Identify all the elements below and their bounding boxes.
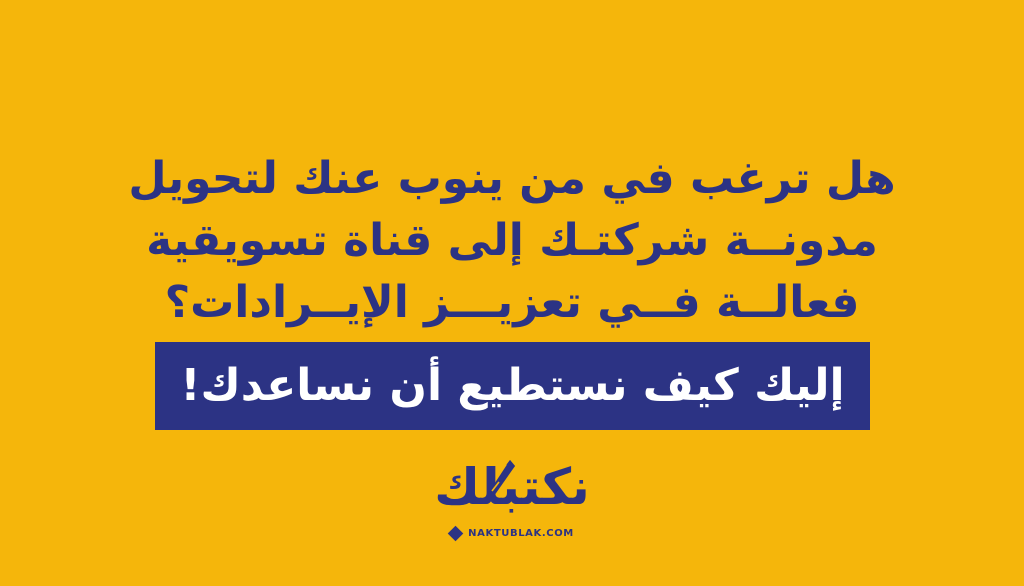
headline-line-3: فعالــة فــي تعزيـــز الإيــرادات؟ <box>0 272 1024 334</box>
headline-line-1: هل ترغب في من ينوب عنك لتحويل <box>0 148 1024 210</box>
diamond-icon <box>448 526 464 542</box>
tagline-text: NAKTUBLAK.COM <box>468 529 574 539</box>
headline-line-2: مدونــة شركتـك إلى قناة تسويقية <box>0 210 1024 272</box>
promo-banner: هل ترغب في من ينوب عنك لتحويل مدونــة شر… <box>0 0 1024 586</box>
logo-lockup: نكتبلك NAKTUBLAK.COM <box>0 456 1024 539</box>
logo-mark: نكتبلك <box>428 456 596 518</box>
cta-band: إليك كيف نستطيع أن نساعدك! <box>155 342 870 430</box>
logo-wordmark: نكتبلك <box>434 462 590 512</box>
cta-text: إليك كيف نستطيع أن نساعدك! <box>180 364 844 408</box>
headline-block: هل ترغب في من ينوب عنك لتحويل مدونــة شر… <box>0 148 1024 334</box>
logo-tagline: NAKTUBLAK.COM <box>450 528 574 539</box>
